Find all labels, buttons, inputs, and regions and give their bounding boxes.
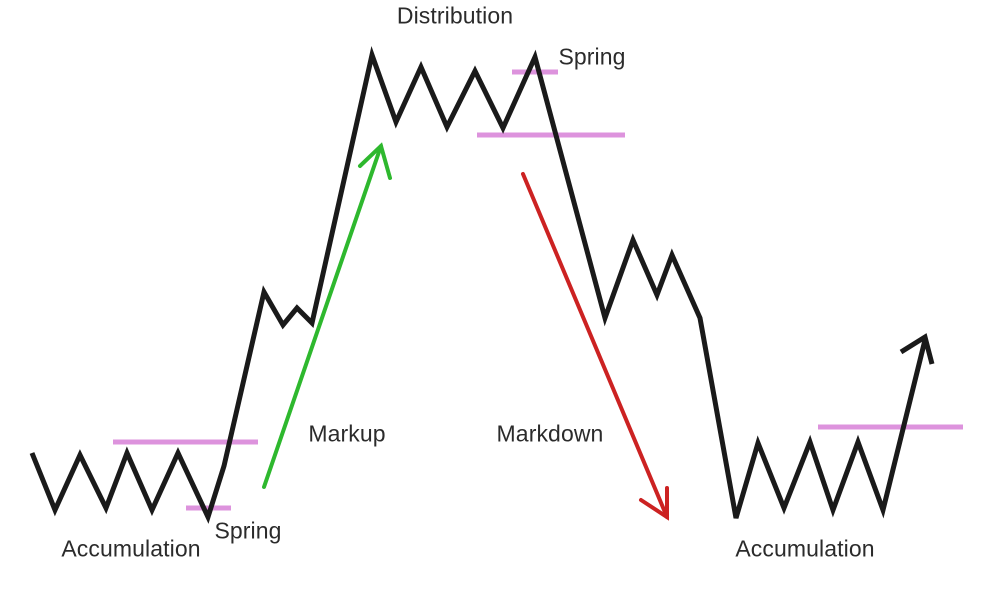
- markdown-arrow-head: [641, 488, 667, 517]
- price-action-path: [32, 55, 925, 518]
- breakout-arrow-head: [901, 337, 932, 364]
- markdown-label: Markdown: [497, 421, 604, 448]
- diagram-canvas: [0, 0, 1000, 600]
- markdown-arrow-shaft: [523, 174, 667, 517]
- markup-label: Markup: [308, 421, 385, 448]
- distribution-label: Distribution: [397, 3, 513, 30]
- markdown-trend-arrow: [523, 174, 667, 517]
- market-cycle-diagram: Distribution Spring Markup Markdown Spri…: [0, 0, 1000, 600]
- spring-label-distribution: Spring: [558, 44, 625, 71]
- accumulation-label-right: Accumulation: [735, 536, 874, 563]
- accumulation-label-left: Accumulation: [61, 536, 200, 563]
- spring-label-accumulation: Spring: [214, 518, 281, 545]
